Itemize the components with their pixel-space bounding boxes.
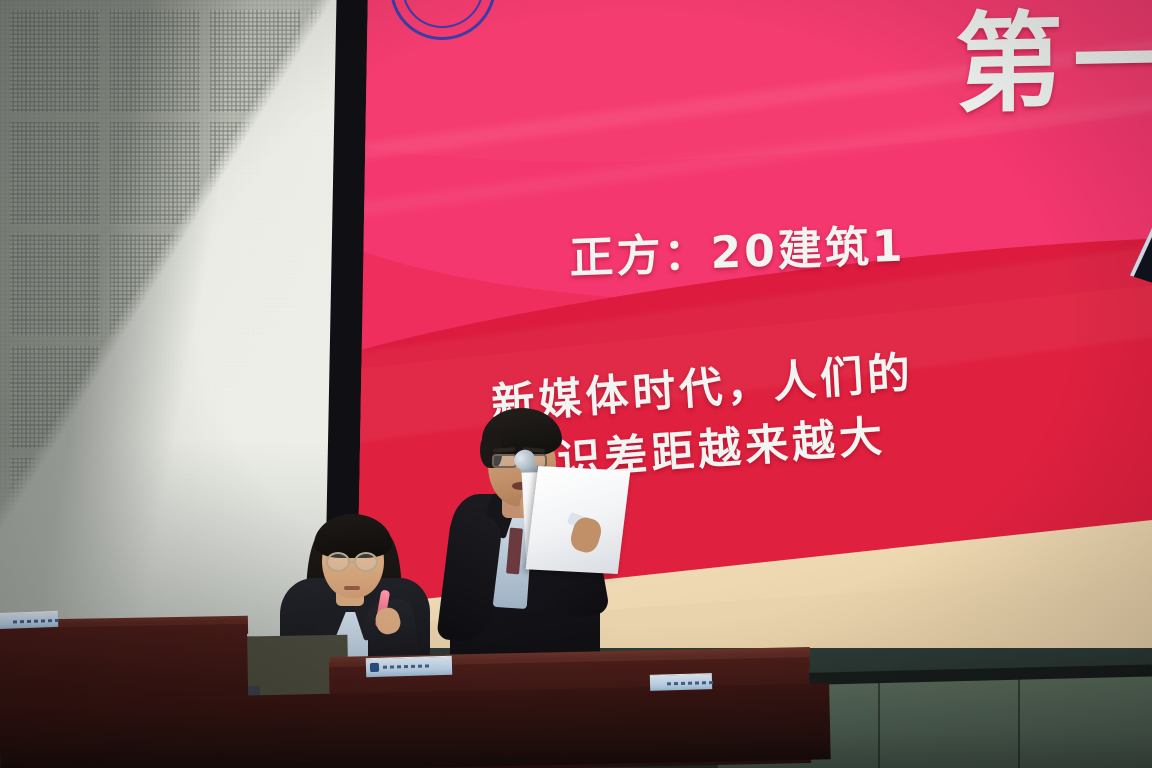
name-card-text — [383, 664, 431, 668]
note-taker-glasses-left-lens — [326, 552, 350, 572]
name-card-text — [667, 681, 715, 685]
note-taker-glasses-bridge — [349, 561, 356, 563]
name-card — [0, 611, 58, 629]
seal-label: UNIVERSITY — [392, 0, 500, 43]
note-taker-glasses-right-lens — [354, 552, 378, 572]
screen-side-label: 正方：20建筑1 — [569, 210, 906, 287]
name-card-text — [13, 619, 61, 624]
name-card — [366, 656, 452, 677]
stage-scene: UNIVERSITY 第一 正方：20建筑1 新媒体时代，人们的 知识差距越来越… — [0, 0, 1152, 768]
name-card-logo-icon — [370, 663, 379, 672]
name-card — [650, 673, 712, 691]
note-taker-hair-top — [314, 514, 392, 558]
university-seal-icon: UNIVERSITY — [389, 0, 497, 40]
note-taker-mouth — [344, 586, 360, 590]
screen-headline: 第一 — [955, 0, 1152, 134]
